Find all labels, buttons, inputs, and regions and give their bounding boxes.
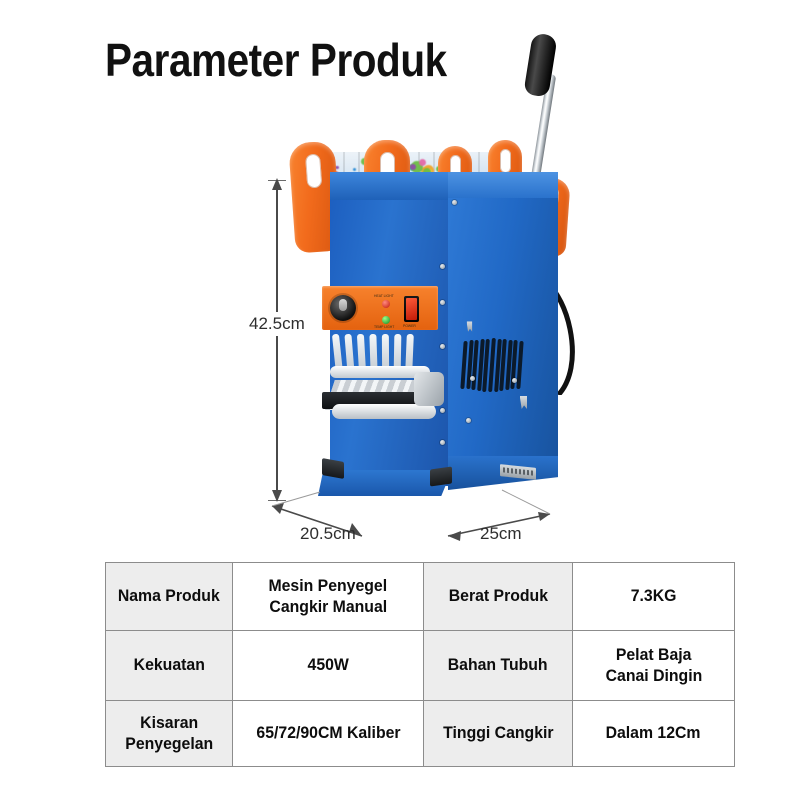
- spec-value-text: Dalam 12Cm: [606, 723, 701, 744]
- product-parameter-page: Parameter Produk: [0, 0, 800, 800]
- temp-light-label: TEMP LIGHT: [374, 325, 394, 329]
- spec-value-text: 7.3KG: [631, 586, 677, 607]
- table-row: Kekuatan 450W Bahan Tubuh Pelat Baja Can…: [106, 631, 735, 701]
- screw: [470, 376, 475, 381]
- machine-top-face: [330, 172, 450, 200]
- spec-label-text-line2: Penyegelan: [125, 734, 213, 755]
- screw: [440, 408, 445, 413]
- width-dimension-label: 25cm: [480, 524, 522, 544]
- spec-value-text-line2: Cangkir Manual: [269, 597, 387, 618]
- spec-value-kekuatan: 450W: [233, 631, 424, 701]
- spec-label-bahan-tubuh: Bahan Tubuh: [424, 631, 573, 701]
- power-label: POWER: [403, 324, 416, 328]
- spec-label-text-line1: Kisaran: [140, 713, 198, 734]
- page-title: Parameter Produk: [105, 33, 447, 87]
- spec-value-kisaran-penyegelan: 65/72/90CM Kaliber: [233, 701, 424, 767]
- spec-label-text: Bahan Tubuh: [448, 655, 548, 676]
- heat-light-label: HEAT LIGHT: [374, 294, 394, 298]
- spec-value-tinggi-cangkir: Dalam 12Cm: [573, 701, 735, 767]
- spec-value-berat-produk: 7.3KG: [573, 563, 735, 631]
- spec-label-berat-produk: Berat Produk: [424, 563, 573, 631]
- spec-label-kekuatan: Kekuatan: [106, 631, 233, 701]
- sealing-drum: [414, 372, 444, 406]
- temp-light-led: [382, 316, 390, 324]
- screw: [452, 200, 457, 205]
- screw: [512, 378, 517, 383]
- machine-side-top-edge: [448, 172, 558, 198]
- front-roller: [332, 404, 436, 419]
- heat-light-led: [382, 300, 390, 308]
- screw: [466, 418, 471, 423]
- spec-label-text: Tinggi Cangkir: [443, 723, 553, 744]
- spec-table: Nama Produk Mesin Penyegel Cangkir Manua…: [105, 562, 735, 767]
- temperature-knob[interactable]: [330, 295, 356, 321]
- height-dimension-arrow: [272, 178, 281, 502]
- power-rocker-switch[interactable]: [404, 296, 419, 322]
- spec-label-kisaran-penyegelan: Kisaran Penyegelan: [106, 701, 233, 767]
- depth-dimension-label: 20.5cm: [300, 524, 356, 544]
- spec-label-tinggi-cangkir: Tinggi Cangkir: [424, 701, 573, 767]
- spec-label-nama-produk: Nama Produk: [106, 563, 233, 631]
- spec-label-text: Berat Produk: [448, 586, 547, 607]
- height-dimension-label: 42.5cm: [246, 312, 308, 336]
- screw: [440, 344, 445, 349]
- spec-value-text-line1: Mesin Penyegel: [269, 576, 388, 597]
- screw: [440, 440, 445, 445]
- spec-value-bahan-tubuh: Pelat Baja Canai Dingin: [573, 631, 735, 701]
- spec-value-text-line1: Pelat Baja: [616, 645, 692, 666]
- spec-value-text-line2: Canai Dingin: [605, 666, 702, 687]
- spec-value-text: 65/72/90CM Kaliber: [256, 723, 400, 744]
- spec-label-text: Kekuatan: [133, 655, 204, 676]
- spec-value-nama-produk: Mesin Penyegel Cangkir Manual: [233, 563, 424, 631]
- table-row: Nama Produk Mesin Penyegel Cangkir Manua…: [106, 563, 735, 631]
- ventilation-grille: [462, 338, 524, 400]
- spec-value-text: 450W: [307, 655, 348, 676]
- machine-side-panel: [448, 172, 558, 472]
- spec-label-text: Nama Produk: [118, 586, 220, 607]
- screw: [440, 264, 445, 269]
- screw: [440, 300, 445, 305]
- table-row: Kisaran Penyegelan 65/72/90CM Kaliber Ti…: [106, 701, 735, 767]
